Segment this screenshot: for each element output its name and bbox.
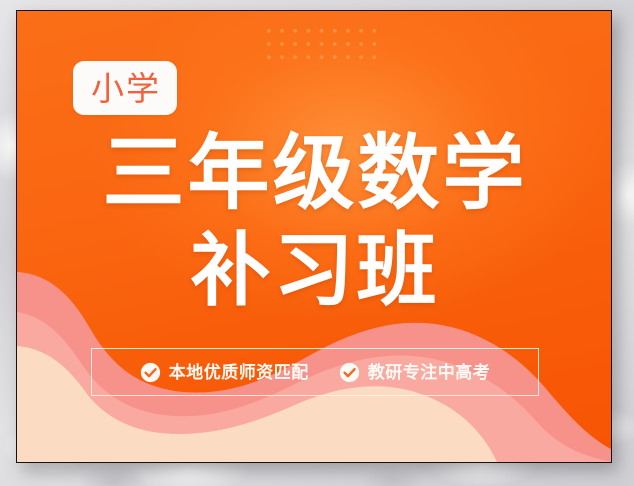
check-circle-icon [140, 362, 161, 383]
feature-label-0: 本地优质师资匹配 [169, 364, 309, 381]
poster-card: 小学 三年级数学 补习班 本地优质师资匹配 教研专注中高考 [16, 10, 612, 463]
check-circle-icon [339, 362, 360, 383]
grade-badge-label: 小学 [89, 72, 161, 105]
feature-item-1: 教研专注中高考 [339, 362, 491, 383]
poster-backdrop: 小学 三年级数学 补习班 本地优质师资匹配 教研专注中高考 [0, 0, 634, 486]
feature-bar: 本地优质师资匹配 教研专注中高考 [91, 348, 539, 396]
grade-badge: 小学 [73, 61, 177, 115]
feature-item-0: 本地优质师资匹配 [140, 362, 309, 383]
headline-line-1: 三年级数学 [17, 133, 612, 215]
headline-line-2: 补习班 [17, 231, 612, 311]
feature-label-1: 教研专注中高考 [368, 364, 491, 381]
dot-grid-ornament-icon [266, 28, 384, 68]
page-title: 三年级数学 补习班 [17, 133, 612, 311]
